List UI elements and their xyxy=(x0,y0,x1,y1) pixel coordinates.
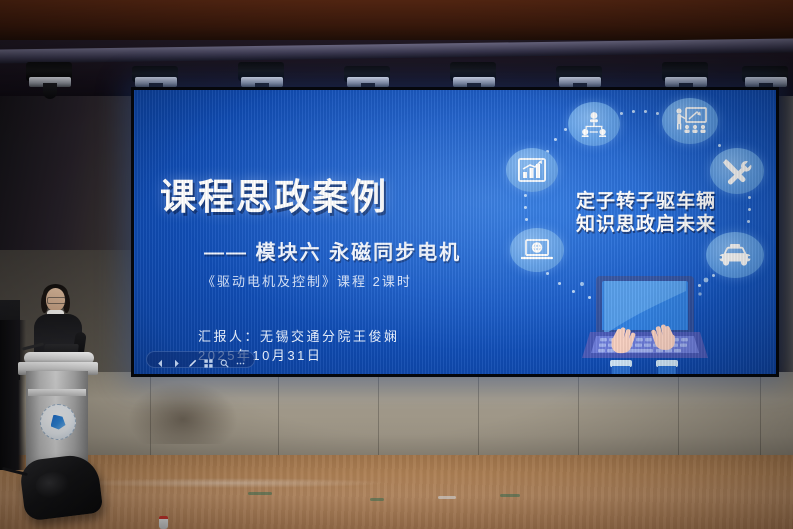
stage-light xyxy=(26,58,80,96)
slideshow-control-bar[interactable] xyxy=(146,351,255,368)
auditorium-scene: 课程思政案例 —— 模块六 永磁同步电机 《驱动电机及控制》课程 2课时 汇报人… xyxy=(0,0,793,529)
floor-marker-tape xyxy=(500,494,520,497)
tools-icon xyxy=(710,148,764,194)
presenter-glasses xyxy=(47,297,66,304)
floor-marker-tape xyxy=(438,496,456,499)
emblem-mark xyxy=(51,415,66,430)
presenter-wall-shadow xyxy=(128,382,238,444)
stage-back-wall-band xyxy=(0,372,793,462)
wall-seam xyxy=(578,372,579,462)
next-slide-button[interactable] xyxy=(172,355,181,364)
slide-graphic: 定子转子驱车辆 知识思政启未来 xyxy=(502,96,776,374)
wall-seam xyxy=(378,372,379,462)
bar-chart-growth-icon xyxy=(506,148,558,192)
people-network-icon xyxy=(568,102,620,146)
slide-course-line: 《驱动电机及控制》课程 2课时 xyxy=(202,271,510,290)
floor-wood-grain xyxy=(0,455,793,529)
zoom-slide-button[interactable] xyxy=(220,355,229,364)
teacher-whiteboard-icon xyxy=(662,98,718,144)
slide-title: 课程思政案例 xyxy=(160,168,510,220)
wall-seam xyxy=(678,372,679,462)
slide-graphic-slogan: 定子转子驱车辆 知识思政启未来 xyxy=(548,190,744,236)
overhead-lighting-truss xyxy=(0,32,793,94)
wall-seam xyxy=(760,372,761,462)
floor-marker-tape xyxy=(248,492,272,495)
slide-subtitle: —— 模块六 永磁同步电机 xyxy=(204,236,510,265)
all-slides-button[interactable] xyxy=(204,355,213,364)
speaker-grille xyxy=(34,470,71,500)
floor-scuff-mark xyxy=(70,478,390,488)
school-emblem xyxy=(40,404,76,440)
led-display-screen: 课程思政案例 —— 模块六 永磁同步电机 《驱动电机及控制》课程 2课时 汇报人… xyxy=(131,87,779,377)
lectern-trim xyxy=(28,389,86,396)
wall-seam xyxy=(478,372,479,462)
more-options-button[interactable] xyxy=(236,355,245,364)
laptop-with-hands-illustration xyxy=(574,274,716,374)
taxi-car-icon xyxy=(706,232,764,278)
previous-slide-button[interactable] xyxy=(156,355,165,364)
water-bottle xyxy=(159,516,168,529)
slide-presenter-line: 汇报人：无锡交通分院王俊娴 xyxy=(198,328,510,347)
floor-marker-tape xyxy=(370,498,384,501)
slogan-line-1: 定子转子驱车辆 xyxy=(548,190,744,213)
pen-annotation-button[interactable] xyxy=(188,355,197,364)
powerpoint-slide[interactable]: 课程思政案例 —— 模块六 永磁同步电机 《驱动电机及控制》课程 2课时 汇报人… xyxy=(134,90,776,374)
left-dark-backdrop xyxy=(0,320,26,470)
slogan-line-2: 知识思政启未来 xyxy=(548,213,744,236)
slide-text-block: 课程思政案例 —— 模块六 永磁同步电机 《驱动电机及控制》课程 2课时 汇报人… xyxy=(160,168,510,366)
wall-seam xyxy=(278,372,279,462)
